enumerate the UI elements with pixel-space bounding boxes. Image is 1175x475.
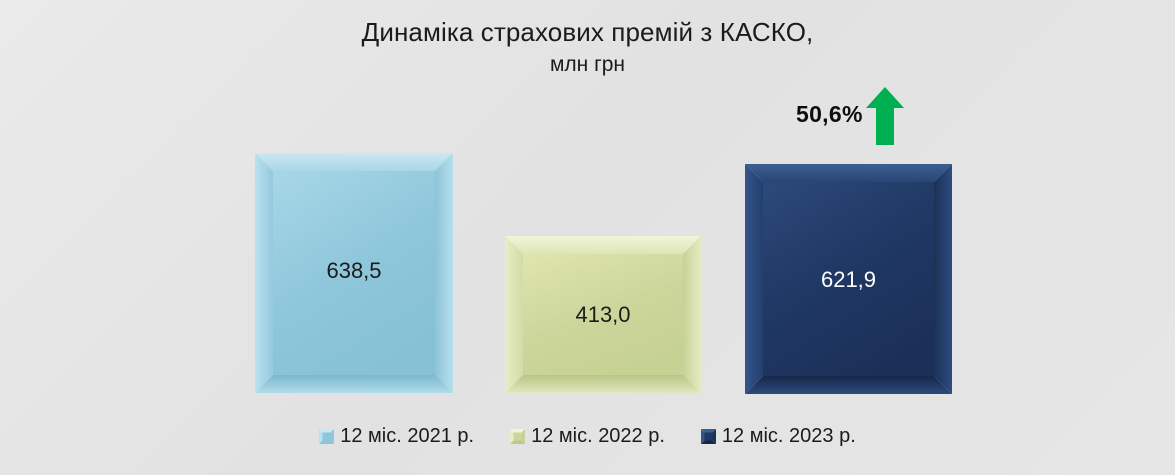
- legend-label-2023: 12 міс. 2023 р.: [722, 424, 856, 448]
- bar-2022-value-label: 413,0: [505, 302, 701, 328]
- bar-2022[interactable]: 413,0: [505, 236, 701, 393]
- legend-label-2021: 12 міс. 2021 р.: [340, 424, 474, 448]
- legend-item-2023[interactable]: 12 міс. 2023 р.: [701, 424, 856, 448]
- bar-2021[interactable]: 638,5: [255, 153, 453, 393]
- legend-item-2022[interactable]: 12 міс. 2022 р.: [510, 424, 665, 448]
- bar-2021-value-label: 638,5: [255, 258, 453, 284]
- legend-item-2021[interactable]: 12 міс. 2021 р.: [319, 424, 474, 448]
- legend-swatch-2022-icon: [510, 429, 525, 444]
- chart-legend: 12 міс. 2021 р. 12 міс. 2022 р.: [0, 424, 1175, 448]
- legend-swatch-2021-icon: [319, 429, 334, 444]
- legend-label-2022: 12 міс. 2022 р.: [531, 424, 665, 448]
- chart-container: Динаміка страхових премій з КАСКО, млн г…: [0, 0, 1175, 475]
- bar-2023-value-label: 621,9: [745, 267, 952, 293]
- bar-2023[interactable]: 621,9: [745, 164, 952, 394]
- legend-swatch-2023-icon: [701, 429, 716, 444]
- plot-area: 638,5: [0, 0, 1175, 475]
